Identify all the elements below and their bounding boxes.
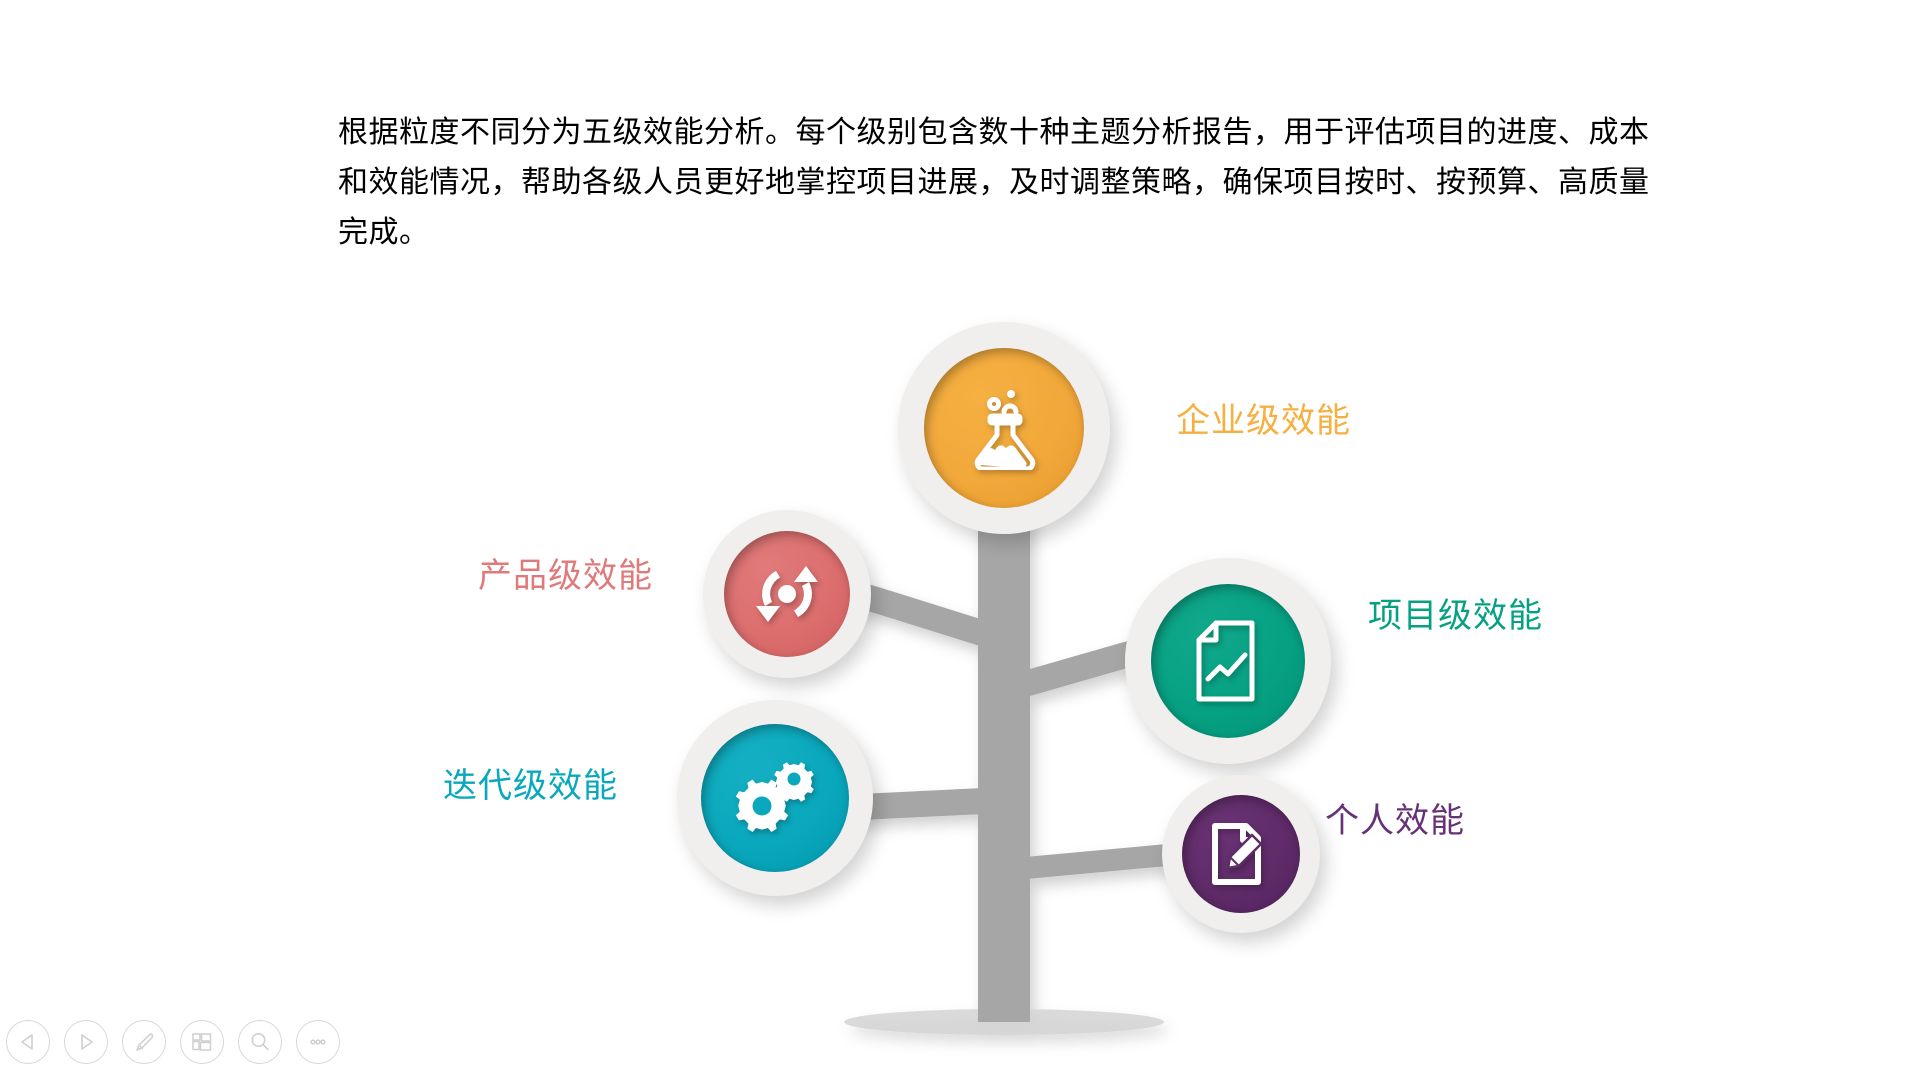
node-project-disc [1151,584,1305,738]
flask-icon [966,386,1042,470]
pen-tool-button[interactable] [122,1020,166,1064]
node-iteration[interactable] [677,700,873,896]
node-product-disc [724,531,850,657]
magnifier-icon [249,1031,271,1053]
gears-icon [732,758,818,838]
node-project[interactable] [1125,558,1331,764]
label-personal: 个人效能 [1325,804,1465,838]
label-enterprise: 企业级效能 [1176,404,1351,438]
slide-canvas: 根据粒度不同分为五级效能分析。每个级别包含数十种主题分析报告，用于评估项目的进度… [0,0,1920,1080]
node-enterprise[interactable] [898,322,1110,534]
pen-icon [133,1031,155,1053]
node-product[interactable] [703,510,871,678]
label-iteration: 迭代级效能 [443,769,618,803]
triangle-left-icon [19,1033,37,1051]
triangle-right-icon [77,1033,95,1051]
node-personal-disc [1182,795,1300,913]
document-chart-icon [1192,620,1264,702]
previous-slide-button[interactable] [6,1020,50,1064]
node-enterprise-disc [924,348,1084,508]
label-project: 项目级效能 [1368,599,1543,633]
edit-document-icon [1210,821,1272,887]
zoom-button[interactable] [238,1020,282,1064]
slides-overview-button[interactable] [180,1020,224,1064]
label-product: 产品级效能 [478,559,653,593]
more-options-button[interactable] [296,1020,340,1064]
node-personal[interactable] [1162,775,1320,933]
slides-icon [191,1031,213,1053]
intro-paragraph: 根据粒度不同分为五级效能分析。每个级别包含数十种主题分析报告，用于评估项目的进度… [338,108,1668,258]
node-iteration-disc [701,724,849,872]
more-dots-icon [307,1031,329,1053]
refresh-cycle-icon [750,557,824,631]
next-slide-button[interactable] [64,1020,108,1064]
presenter-toolbar [6,1020,340,1064]
